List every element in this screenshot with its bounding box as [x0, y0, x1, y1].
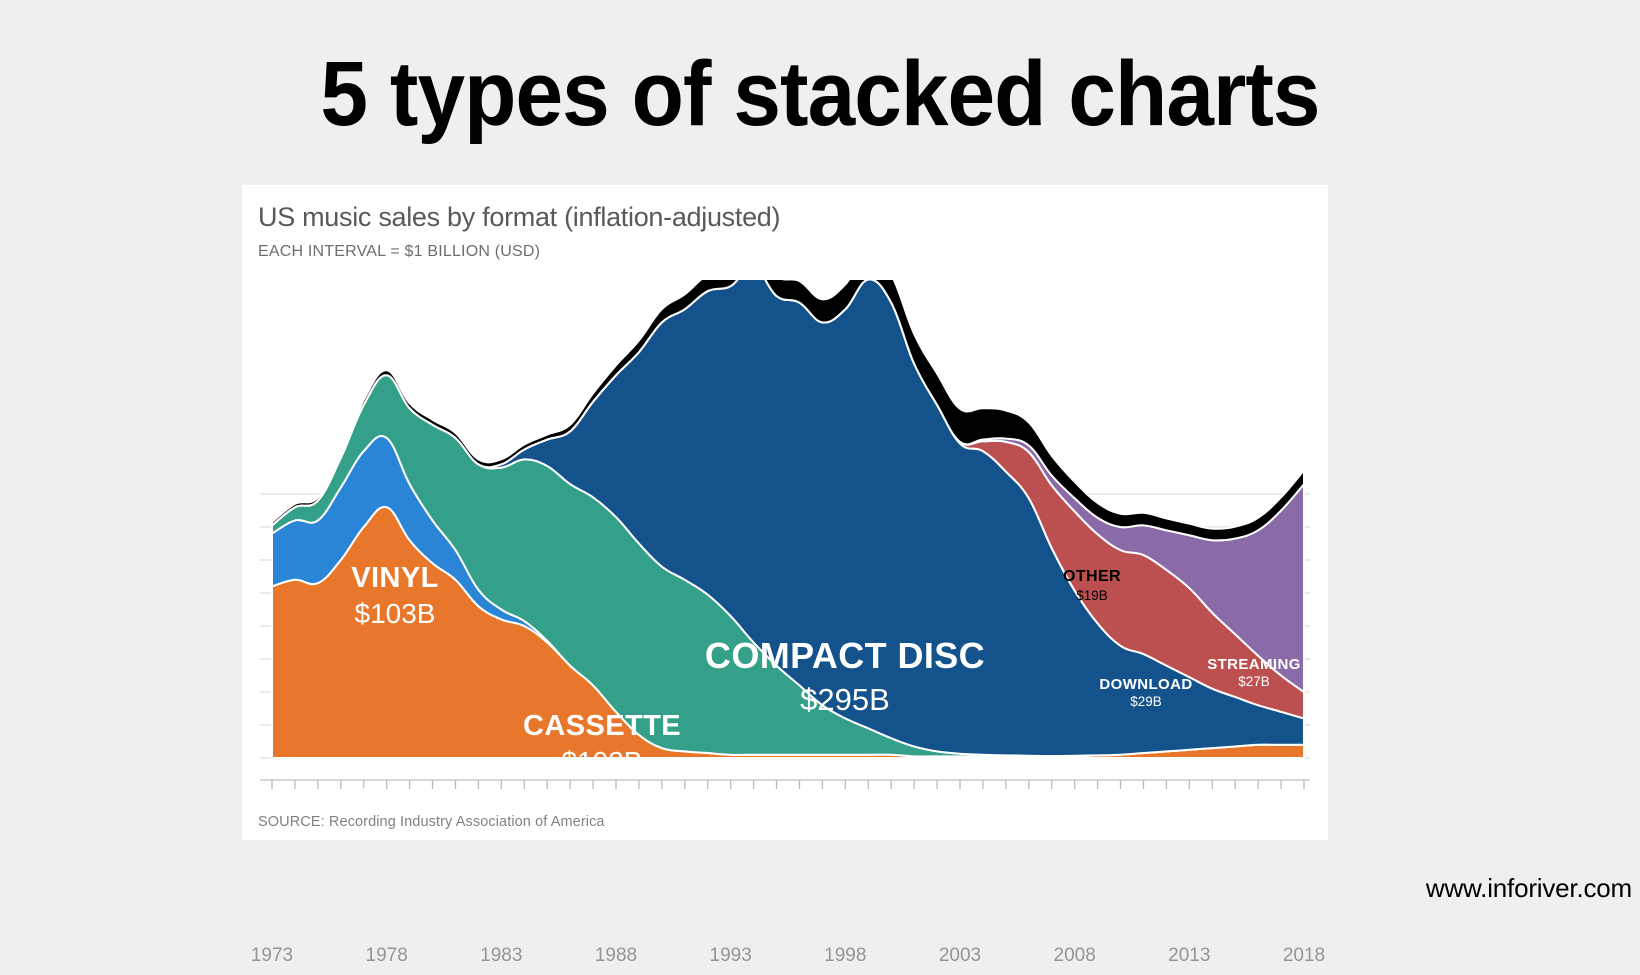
x-axis-label-2013: 2013 — [1168, 945, 1210, 967]
x-axis-label-1988: 1988 — [595, 945, 637, 967]
x-axis-label-1993: 1993 — [710, 945, 752, 967]
x-axis-label-1973: 1973 — [251, 945, 293, 967]
axis-ticks — [260, 780, 1310, 789]
x-axis-label-1998: 1998 — [824, 945, 866, 967]
site-watermark: www.inforiver.com — [1426, 873, 1632, 904]
x-axis-label-1983: 1983 — [480, 945, 522, 967]
chart-subtitle: EACH INTERVAL = $1 BILLION (USD) — [258, 243, 540, 261]
x-axis-label-1978: 1978 — [366, 945, 408, 967]
chart-svg — [260, 280, 1310, 800]
page-title: 5 types of stacked charts — [57, 48, 1582, 140]
chart-title: US music sales by format (inflation-adju… — [258, 202, 780, 233]
x-axis-label-2018: 2018 — [1283, 945, 1325, 967]
x-axis-label-2003: 2003 — [939, 945, 981, 967]
chart-source: SOURCE: Recording Industry Association o… — [258, 814, 605, 830]
x-axis-label-2008: 2008 — [1054, 945, 1096, 967]
x-axis-labels: 1973197819831988199319982003200820132018 — [260, 945, 1310, 975]
stacked-area-chart: VINYL $103B 8-TRACK $23B CASSETTE $102B … — [260, 280, 1310, 800]
chart-card: US music sales by format (inflation-adju… — [242, 185, 1328, 840]
area-bands — [272, 280, 1304, 758]
